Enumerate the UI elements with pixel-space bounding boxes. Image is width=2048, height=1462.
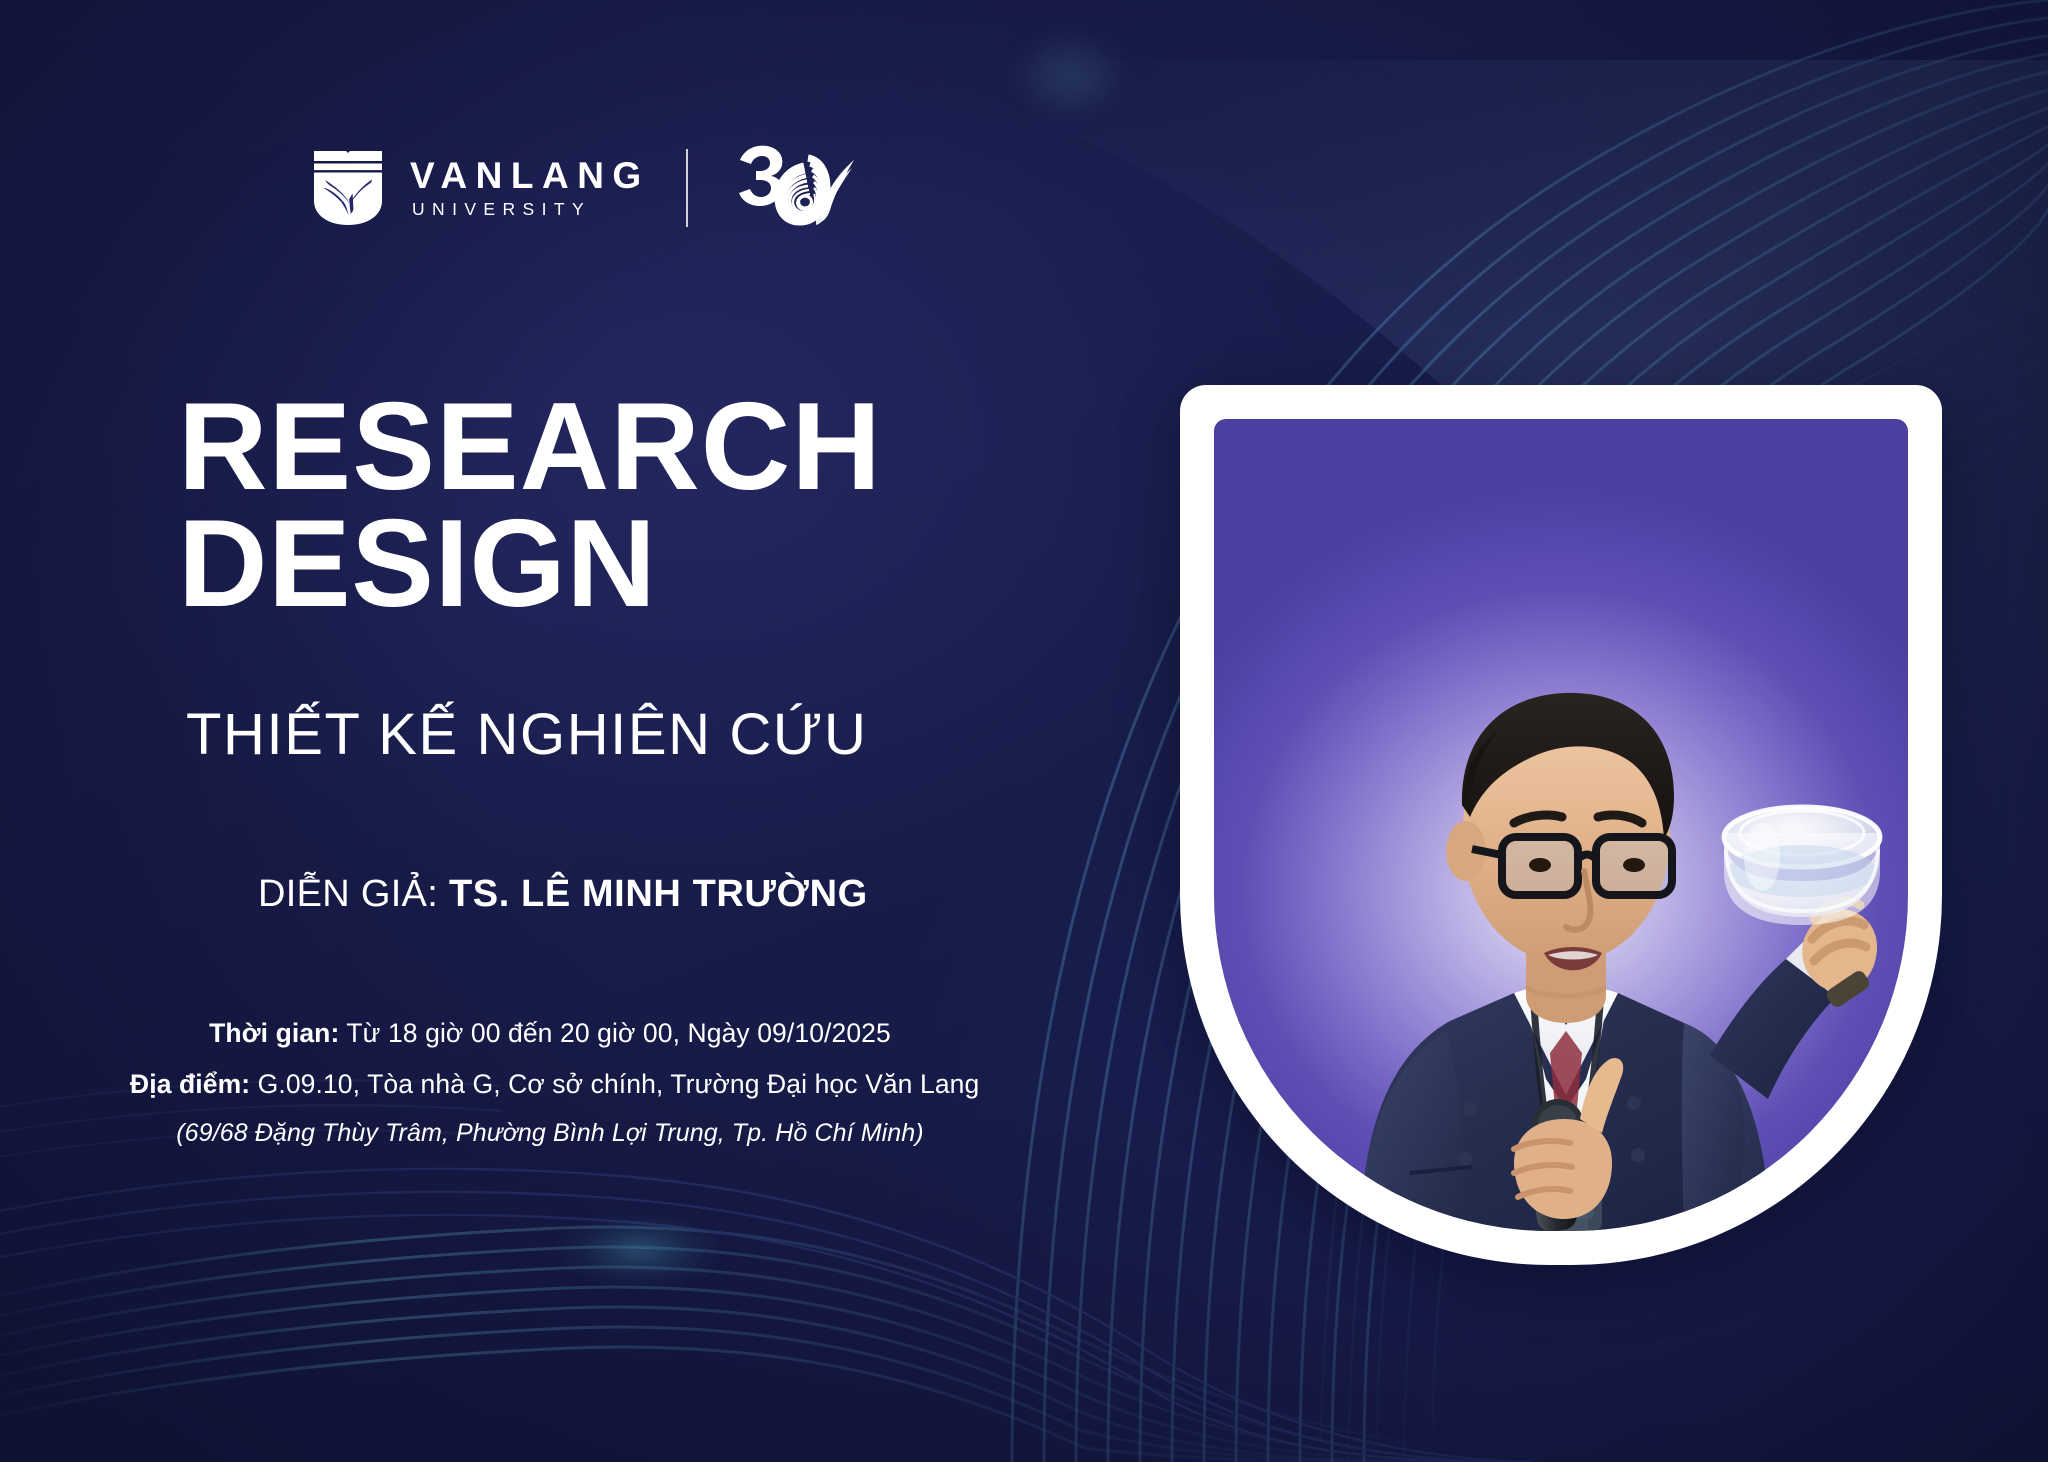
event-details: Thời gian: Từ 18 giờ 00 đến 20 giờ 00, N…	[130, 1020, 970, 1146]
vanlang-shield-emblem-icon	[312, 149, 384, 227]
event-poster: VANLANG UNIVERSITY RE	[0, 0, 2048, 1462]
time-value: Từ 18 giờ 00 đến 20 giờ 00, Ngày 09/10/2…	[346, 1018, 890, 1048]
university-name: VANLANG	[410, 157, 650, 194]
title-line-1: RESEARCH	[178, 390, 1008, 505]
subtitle-vietnamese: THIẾT KẾ NGHIÊN CỨU	[186, 706, 867, 764]
speaker-label: DIỄN GIẢ:	[258, 873, 438, 915]
speaker-portrait	[1214, 419, 1908, 1231]
address-line: (69/68 Đặng Thùy Trâm, Phường Bình Lợi T…	[130, 1121, 970, 1146]
brand-header: VANLANG UNIVERSITY	[312, 140, 856, 236]
speaker-photo-shield	[1180, 385, 1942, 1265]
vanlang-wordmark: VANLANG UNIVERSITY	[410, 157, 650, 219]
time-label: Thời gian:	[209, 1018, 339, 1048]
page-title: RESEARCH DESIGN	[178, 390, 1008, 623]
vanlang-logo-lockup: VANLANG UNIVERSITY	[312, 149, 650, 227]
title-line-2: DESIGN	[178, 507, 1008, 622]
venue-label: Địa điểm:	[130, 1069, 250, 1099]
speaker-name: TS. LÊ MINH TRƯỜNG	[449, 873, 868, 915]
time-row: Thời gian: Từ 18 giờ 00 đến 20 giờ 00, N…	[130, 1020, 970, 1047]
vertical-divider-icon	[686, 149, 688, 227]
university-sub: UNIVERSITY	[410, 201, 650, 219]
speaker-line: DIỄN GIẢ: TS. LÊ MINH TRƯỜNG	[258, 875, 868, 913]
venue-value: G.09.10, Tòa nhà G, Cơ sở chính, Trường …	[258, 1069, 980, 1099]
30th-anniversary-logo-icon	[724, 140, 856, 236]
venue-row: Địa điểm: G.09.10, Tòa nhà G, Cơ sở chín…	[130, 1071, 970, 1098]
